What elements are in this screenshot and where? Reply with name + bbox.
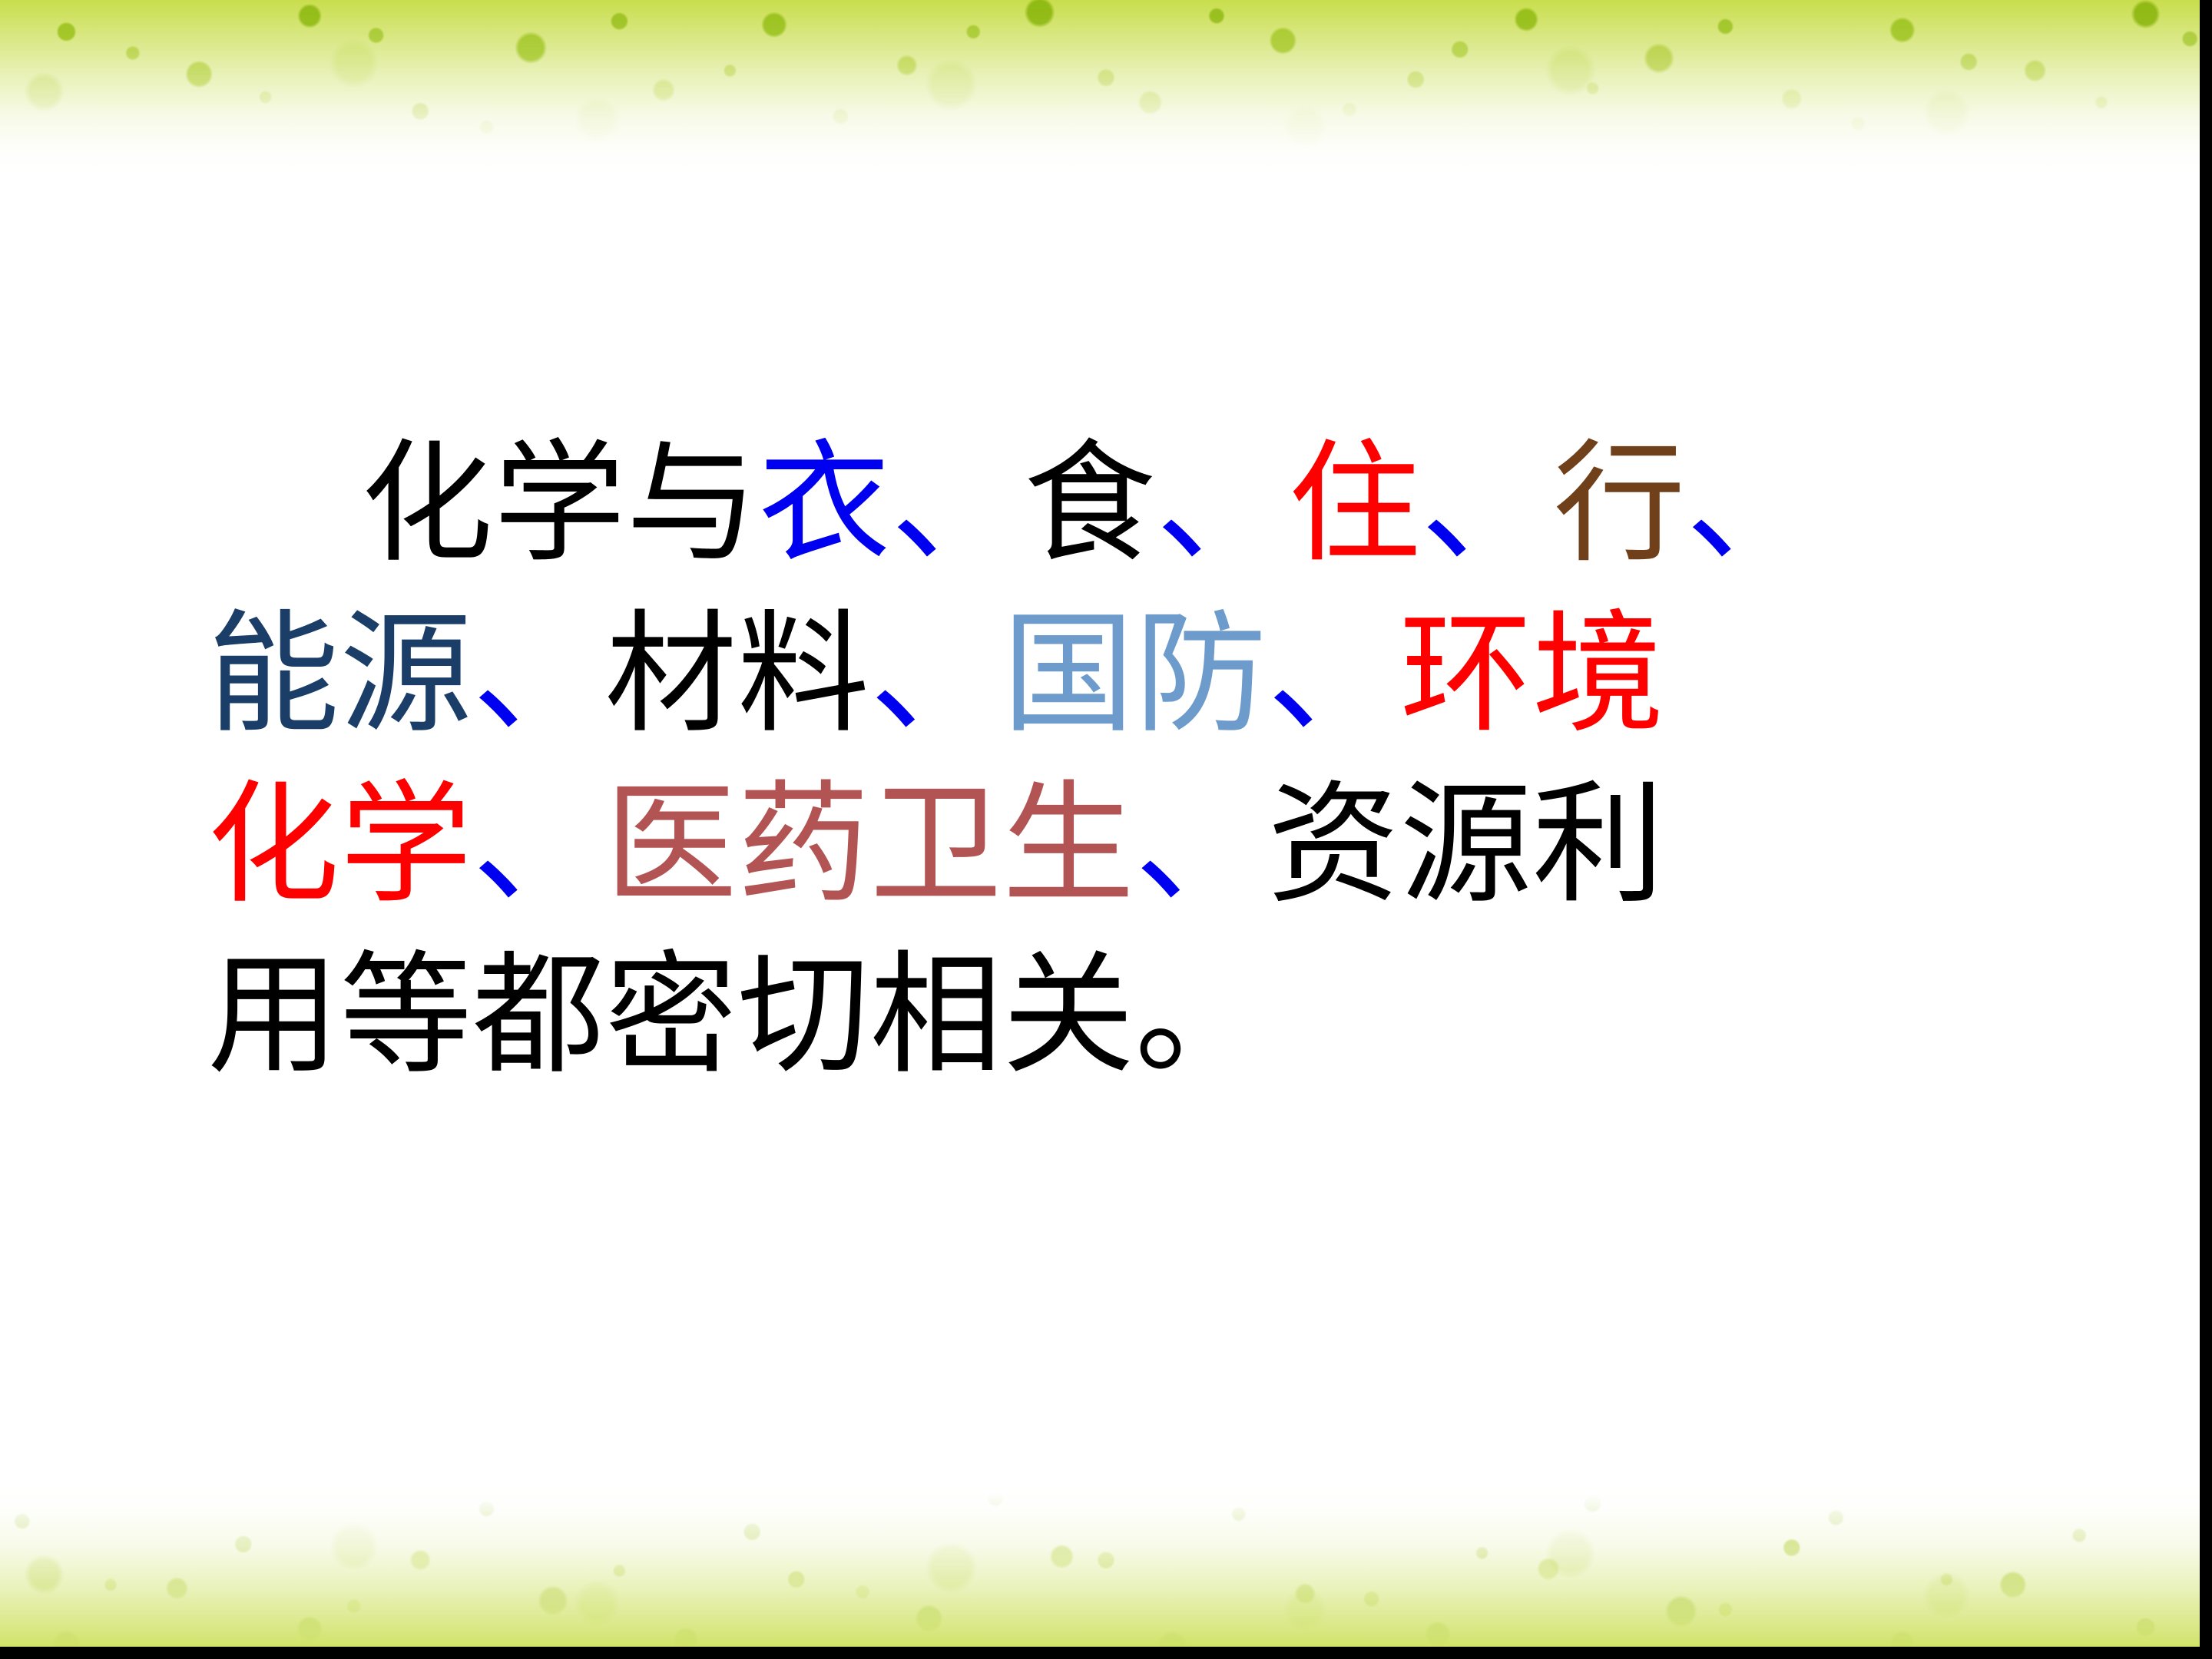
text-segment: 用等都密切相关。 [207,938,1267,1092]
text-segment-punctuation: 、 [472,597,605,751]
top-border-speckle-large [0,0,2212,177]
text-segment: 国防 [1002,597,1267,751]
text-line-3: 化学、医药卫生、资源利 [207,760,2005,930]
right-edge-strip [2200,0,2212,1659]
bottom-border-speckle-large [0,1482,2212,1659]
text-segment-punctuation: 、 [870,597,1003,751]
text-segment: 住 [1289,426,1422,581]
text-segment-punctuation: 、 [1156,426,1289,581]
text-segment-punctuation: 、 [1421,426,1554,581]
text-segment: 行 [1554,426,1687,581]
text-segment-punctuation: 、 [472,767,605,922]
text-segment: 衣 [759,426,892,581]
top-border-wash [0,0,2212,177]
text-segment-punctuation: 、 [1686,426,1819,581]
text-line-2: 能源、材料、国防、环境 [207,589,2005,760]
bottom-edge-strip [0,1647,2212,1659]
top-border-speckle-medium [0,0,2212,177]
text-line-4: 用等都密切相关。 [207,930,2005,1101]
text-segment-punctuation: 、 [1267,597,1400,751]
bottom-border-wash [0,1482,2212,1659]
bottom-border-decoration [0,1482,2212,1659]
text-segment: 化学与 [361,426,759,581]
text-segment-punctuation: 、 [1135,767,1268,922]
text-line-1: 化学与衣、食、住、行、 [207,419,2005,589]
text-segment: 食 [1024,426,1157,581]
text-segment: 环境 [1400,597,1665,751]
text-segment: 材料 [605,597,870,751]
bottom-border-speckle-medium [0,1482,2212,1659]
slide-body-text: 化学与衣、食、住、行、 能源、材料、国防、环境 化学、医药卫生、资源利 用等都密… [207,419,2005,1101]
text-segment: 化学 [207,767,472,922]
slide-canvas: 化学与衣、食、住、行、 能源、材料、国防、环境 化学、医药卫生、资源利 用等都密… [0,0,2212,1659]
top-border-decoration [0,0,2212,177]
text-segment: 医药卫生 [605,767,1135,922]
bottom-border-speckle-small [0,1482,2212,1659]
text-segment-punctuation: 、 [891,426,1024,581]
text-segment: 资源利 [1267,767,1665,922]
top-border-speckle-small [0,0,2212,177]
text-segment: 能源 [207,597,472,751]
